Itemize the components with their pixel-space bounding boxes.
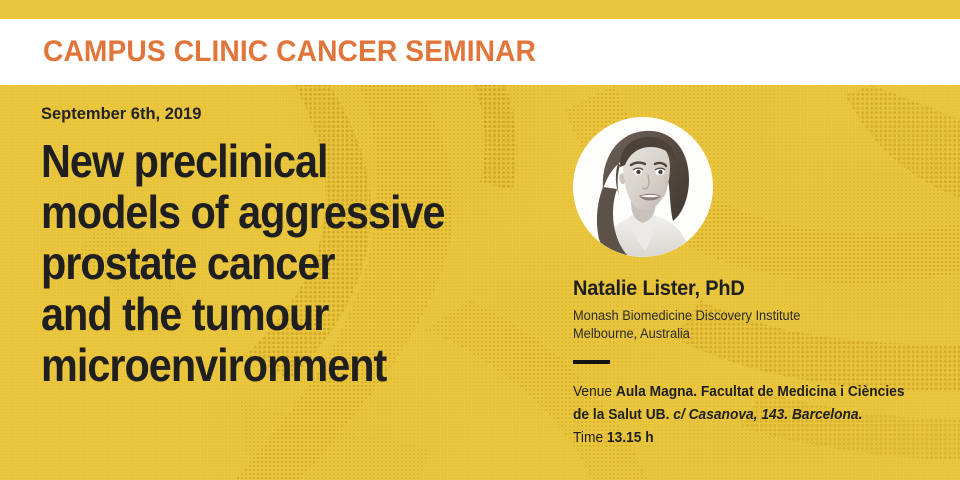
time-label: Time <box>573 430 603 446</box>
top-stripe <box>0 0 960 19</box>
talk-info-column: September 6th, 2019 New preclinical mode… <box>41 105 541 391</box>
page-title: CAMPUS CLINIC CANCER SEMINAR <box>43 37 536 67</box>
event-details: Venue Aula Magna. Facultat de Medicina i… <box>573 381 929 450</box>
header-band: CAMPUS CLINIC CANCER SEMINAR <box>0 19 960 85</box>
time-value: 13.15 h <box>607 430 654 446</box>
time-line: Time 13.15 h <box>573 427 929 450</box>
speaker-affiliation: Monash Biomedicine Discovery Institute M… <box>573 307 929 343</box>
talk-title-line: microenvironment <box>41 340 491 391</box>
speaker-name: Natalie Lister, PhD <box>573 278 929 299</box>
speaker-city: Melbourne, Australia <box>573 325 929 343</box>
speaker-block: Natalie Lister, PhD Monash Biomedicine D… <box>573 278 948 343</box>
venue-address: c/ Casanova, 143. Barcelona. <box>673 407 862 423</box>
venue-name-part-2: de la Salut UB. <box>573 407 669 423</box>
avatar <box>573 117 713 257</box>
divider-rule <box>573 360 610 364</box>
event-date: September 6th, 2019 <box>41 105 526 122</box>
talk-title: New preclinical models of aggressive pro… <box>41 136 491 391</box>
talk-title-line: and the tumour <box>41 289 491 340</box>
venue-name-part-1: Aula Magna. Facultat de Medicina i Ciènc… <box>616 384 905 400</box>
seminar-poster: CAMPUS CLINIC CANCER SEMINAR September 6… <box>0 0 960 480</box>
venue-line-1: Venue Aula Magna. Facultat de Medicina i… <box>573 381 929 404</box>
talk-title-line: prostate cancer <box>41 238 491 289</box>
speaker-info-column: Natalie Lister, PhD Monash Biomedicine D… <box>573 117 948 450</box>
venue-label: Venue <box>573 384 612 400</box>
talk-title-line: models of aggressive <box>41 187 491 238</box>
speaker-institute: Monash Biomedicine Discovery Institute <box>573 307 929 325</box>
venue-line-2: de la Salut UB. c/ Casanova, 143. Barcel… <box>573 404 929 427</box>
talk-title-line: New preclinical <box>41 136 491 187</box>
